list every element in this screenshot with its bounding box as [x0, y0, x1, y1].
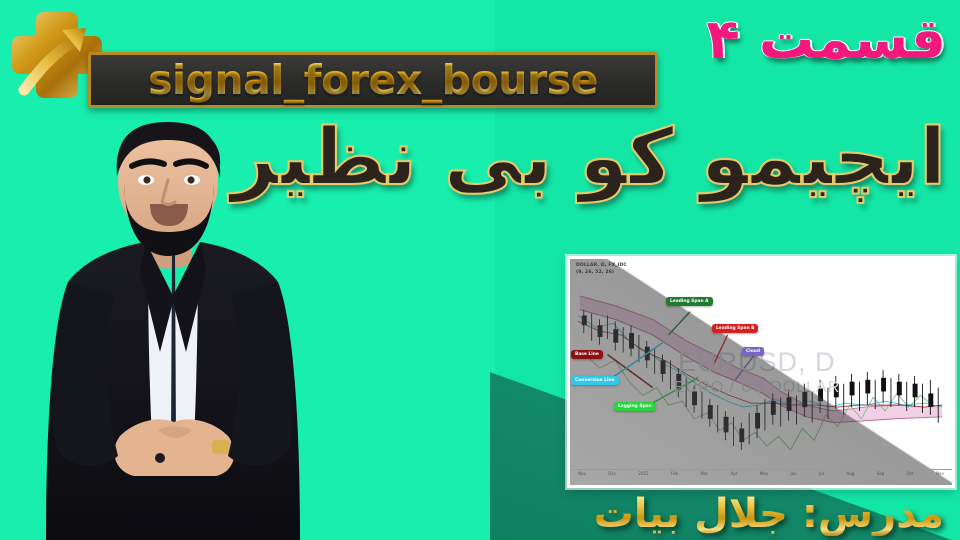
- channel-name-text: signal_forex_bourse: [148, 56, 598, 104]
- x-axis-tick: Nov: [578, 471, 586, 481]
- x-axis-tick: Mar: [701, 471, 709, 481]
- page-title: ایچیمو کو بی نظیر: [246, 112, 946, 204]
- chart-x-axis: NovDec2015FebMarAprMayJunJulAugSepOctNov: [570, 469, 952, 481]
- presenter-photo: [8, 100, 338, 540]
- chart-params-text: (9, 26, 52, 26): [576, 270, 627, 277]
- x-axis-tick: Feb: [671, 471, 678, 481]
- x-axis-tick: Aug: [846, 471, 854, 481]
- x-axis-tick: Sep: [877, 471, 885, 481]
- annotation-base-line[interactable]: Base Line: [571, 350, 603, 359]
- x-axis-tick: Oct: [907, 471, 914, 481]
- x-axis-tick: 2015: [638, 471, 648, 481]
- annotation-leading-span-a[interactable]: Leading Span A: [666, 297, 713, 306]
- x-axis-tick: Jun: [791, 471, 797, 481]
- x-axis-tick: Nov: [936, 471, 944, 481]
- ichimoku-chart-panel[interactable]: EURUSD, D EURO / US DOLLAR DOLLAR, D, FX…: [567, 256, 955, 488]
- annotation-cloud[interactable]: Cloud: [742, 347, 764, 356]
- chart-symbol-text: DOLLAR, D, FX_IDC: [576, 263, 627, 270]
- x-axis-tick: Jul: [819, 471, 824, 481]
- annotation-lagging-span[interactable]: Lagging Span: [614, 402, 656, 411]
- chart-watermark-name: EURO / US DOLLAR: [674, 379, 840, 397]
- x-axis-tick: Apr: [731, 471, 738, 481]
- instructor-credit: مدرس: جلال بیات: [594, 492, 944, 536]
- x-axis-tick: May: [760, 471, 768, 481]
- annotation-leading-span-b[interactable]: Leading Span B: [712, 324, 758, 333]
- x-axis-tick: Dec: [608, 471, 616, 481]
- episode-label: قسمت ۴: [706, 12, 946, 67]
- chart-plot-area: EURUSD, D EURO / US DOLLAR DOLLAR, D, FX…: [570, 259, 952, 485]
- annotation-conversion-line[interactable]: Conversion Line: [571, 376, 619, 385]
- thumbnail-canvas: signal_forex_bourse قسمت ۴ ایچیمو کو بی …: [0, 0, 960, 540]
- chart-header: DOLLAR, D, FX_IDC (9, 26, 52, 26): [576, 263, 627, 277]
